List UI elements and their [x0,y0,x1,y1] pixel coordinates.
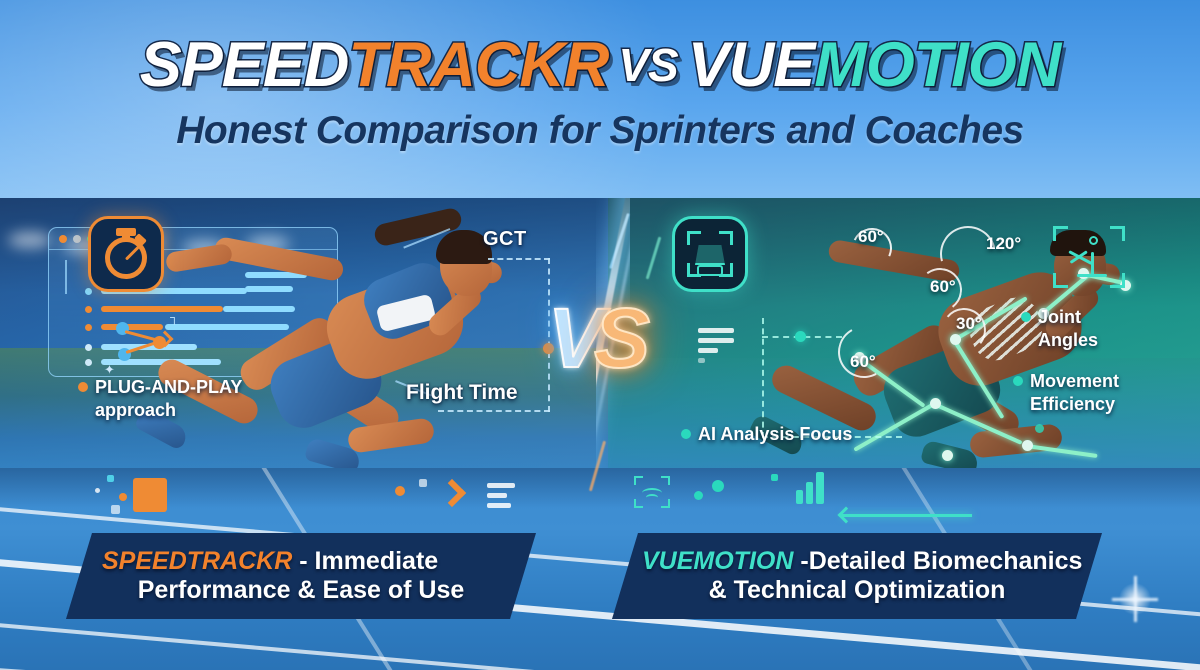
card-bullet [85,324,92,331]
feature-line-1: PLUG-AND-PLAY [95,376,275,399]
dot-deco-orange [395,486,405,496]
card-bullet [85,288,92,295]
bullet-dot [681,429,691,439]
vs-letter-v: V [548,291,600,385]
share-nodes-icon [116,318,172,364]
scan-base [697,265,723,276]
feature-joint-angles: Joint Angles [1038,306,1188,351]
angle-label-1: 60° [858,227,884,247]
feature-movement-efficiency: Movement Efficiency [1030,370,1190,415]
dot-deco-teal [712,480,724,492]
infographic-canvas: SPEEDTRACKRVSVUEMOTION Honest Comparison… [0,0,1200,670]
callout-line-flight [438,410,550,412]
feature-line-2: approach [95,399,275,422]
stopwatch-icon[interactable] [88,216,164,292]
list-lines-icon [487,483,515,513]
feature-ai-analysis-focus: AI Analysis Focus [698,423,918,446]
joint-marker [930,398,941,409]
feature-line-1: Movement [1030,370,1190,393]
banner-brand-vuemotion: VUEMOTION [642,547,793,575]
banner-dash: - [793,547,808,575]
equalizer-icon [698,328,734,368]
right-summary-banner: VUEMOTION -Detailed Biomechanics & Techn… [612,533,1102,619]
sparkle-deco [1112,576,1158,622]
angle-label-5: 60° [850,352,876,372]
card-bullet [85,344,92,351]
small-square-deco [107,475,114,482]
card-bullet [85,359,92,366]
bullet-dot [1021,312,1031,322]
angle-label-4: 30° [956,314,982,334]
subtitle: Honest Comparison for Sprinters and Coac… [0,109,1200,153]
motion-arrow-head [838,507,855,524]
title-part-trackr: TRACKR [348,30,608,100]
callout-gct: GCT [483,228,527,251]
track-top-shadow [0,468,1200,508]
vs-letter-s: S [594,291,646,385]
callout-flight-time: Flight Time [406,381,518,405]
small-square-deco [771,474,778,481]
orange-square-deco [133,478,167,512]
small-square-deco [111,505,120,514]
dot-deco-orange [119,493,127,501]
bar-chart-icon [796,472,827,504]
feature-line-2: Angles [1038,329,1188,352]
feature-line-1: Joint [1038,306,1188,329]
scan-cone [695,245,725,265]
title-part-speed: SPEED [140,30,349,100]
left-summary-banner: SPEEDTRACKR - Immediate Performance & Ea… [66,533,536,619]
angle-label-3: 60° [930,277,956,297]
banner-rest: Immediate [315,547,439,575]
banner-brand-speedtrackr: SPEEDTRACKR [102,547,292,575]
callout-dot-teal [795,331,806,342]
banner-rest: Detailed Biomechanics [809,547,1083,575]
card-accent-line [65,260,67,294]
feature-line-1: AI Analysis Focus [698,423,918,446]
vs-badge: VS [548,296,646,380]
feature-plug-and-play: PLUG-AND-PLAY approach [95,376,275,421]
banner-dash: - [292,547,314,575]
window-dot-gray [73,235,81,243]
runner-frame-icon [1053,226,1125,288]
banner-line-1: VUEMOTION -Detailed Biomechanics [634,547,1080,577]
angle-label-2: 120° [986,234,1021,254]
scan-frame-deco-icon [634,476,670,508]
banner-line-2: Performance & Ease of Use [88,576,514,606]
title-part-motion: MOTION [814,30,1060,100]
spark-tick: ┐ [170,310,179,324]
bullet-dot [78,382,88,392]
banner-line-1: SPEEDTRACKR - Immediate [88,547,514,577]
callout-line-gct [488,258,550,260]
card-bullet [85,306,92,313]
dot-deco-teal [694,491,703,500]
title-part-vs: VS [618,39,677,91]
bullet-dot [1013,376,1023,386]
feature-line-2: Efficiency [1030,393,1190,416]
dot-deco-teal [1035,424,1044,433]
joint-marker [942,450,953,461]
dot-deco [95,488,100,493]
motion-capture-scan-icon[interactable] [672,216,748,292]
joint-marker [1022,440,1033,451]
banner-line-2: & Technical Optimization [634,576,1080,606]
main-title: SPEEDTRACKRVSVUEMOTION [0,34,1200,97]
title-part-vue: VUE [688,30,815,100]
small-square-deco [419,479,427,487]
window-dot-orange [59,235,67,243]
title-block: SPEEDTRACKRVSVUEMOTION Honest Comparison… [0,34,1200,153]
motion-arrow-line [842,514,972,517]
